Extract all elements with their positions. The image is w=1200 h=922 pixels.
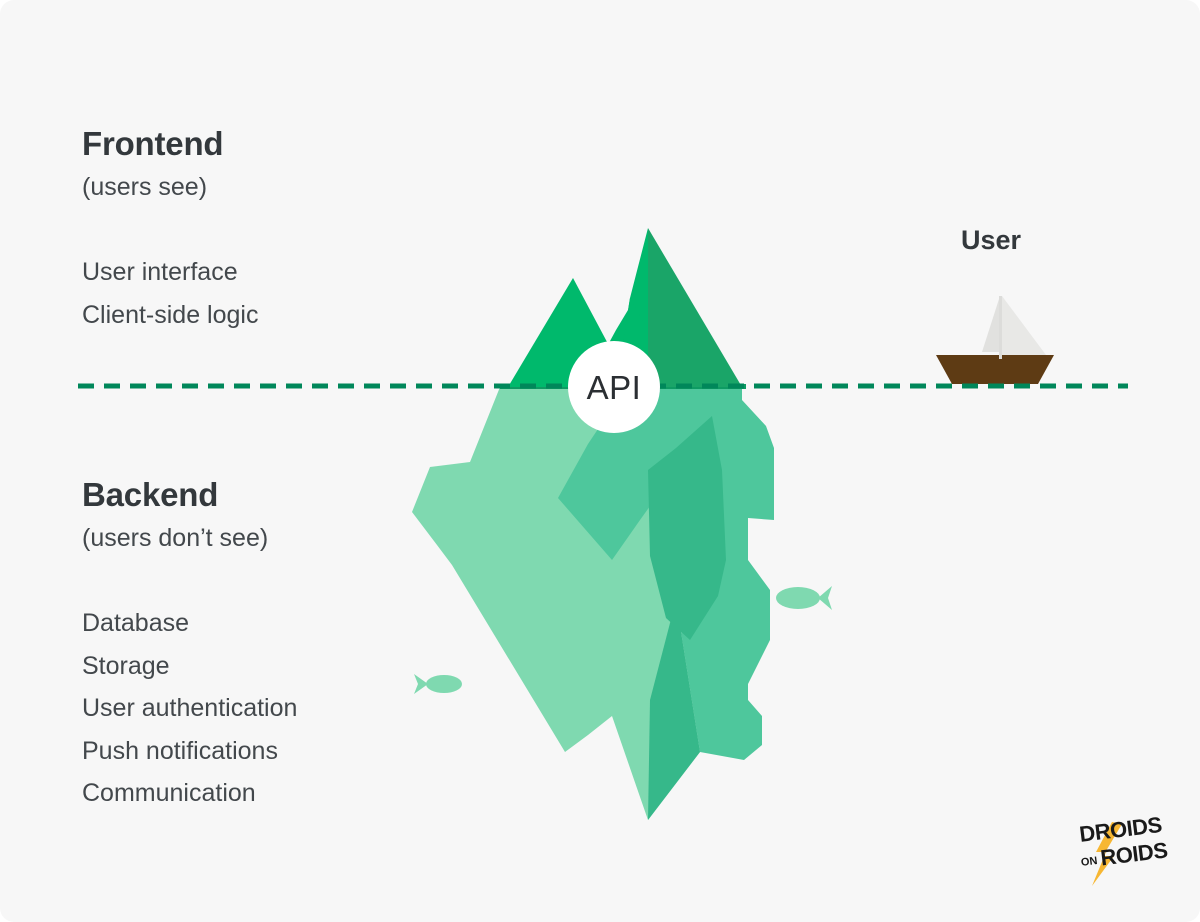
boat-hull bbox=[936, 355, 1054, 384]
boat-mainsail bbox=[1002, 296, 1046, 355]
frontend-item-user-interface: User interface bbox=[82, 258, 238, 287]
boat-jib bbox=[982, 299, 999, 352]
frontend-subtitle: (users see) bbox=[82, 173, 207, 202]
logo-line-2-small: ON bbox=[1080, 855, 1098, 869]
backend-item-storage: Storage bbox=[82, 652, 170, 681]
iceberg-peak-main-dark bbox=[648, 228, 742, 387]
backend-item-communication: Communication bbox=[82, 779, 256, 808]
backend-item-database: Database bbox=[82, 609, 189, 638]
backend-item-push-notifications: Push notifications bbox=[82, 737, 278, 766]
fish-right-icon bbox=[776, 586, 832, 610]
frontend-title: Frontend bbox=[82, 125, 223, 163]
api-badge-label: API bbox=[587, 371, 642, 404]
api-badge: API bbox=[568, 341, 660, 433]
droids-on-roids-logo[interactable]: DROIDS ON ROIDS bbox=[1076, 812, 1169, 886]
boat-mast bbox=[999, 296, 1002, 359]
frontend-item-client-side-logic: Client-side logic bbox=[82, 301, 258, 330]
backend-subtitle: (users don’t see) bbox=[82, 524, 268, 553]
backend-title: Backend bbox=[82, 476, 218, 514]
backend-item-user-authentication: User authentication bbox=[82, 694, 297, 723]
fish-left-icon bbox=[414, 674, 462, 694]
infographic-canvas: DROIDS ON ROIDS Frontend (users see) Use… bbox=[0, 0, 1200, 922]
user-label: User bbox=[961, 225, 1021, 256]
